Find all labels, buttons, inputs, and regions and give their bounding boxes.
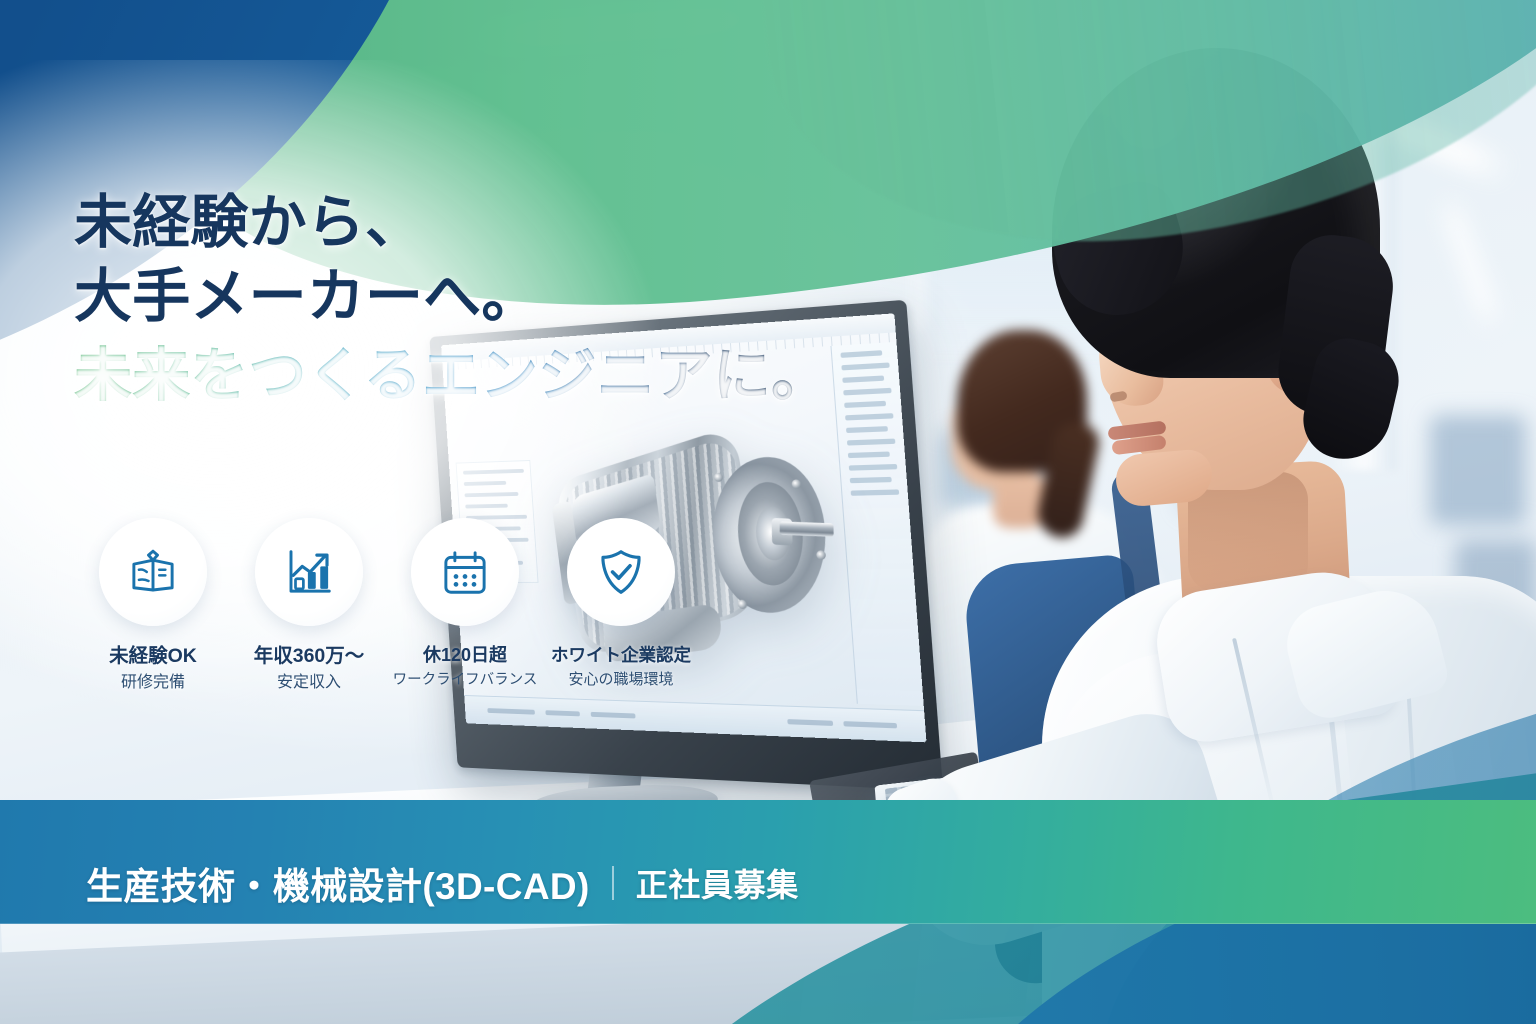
feature-title: ホワイト企業認定 — [546, 646, 696, 665]
feature-badge-white-company: ホワイト企業認定 安心の職場環境 — [546, 518, 696, 692]
calendar-icon — [438, 545, 492, 599]
feature-title: 未経験OK — [78, 646, 228, 667]
headline-block: 未経験から、 大手メーカーへ。 未来をつくるエンジニアに。 — [74, 186, 884, 414]
feature-icon-circle — [567, 518, 675, 626]
feature-subtitle: 研修完備 — [78, 674, 228, 692]
headline-line-3: 未来をつくるエンジニアに。 — [74, 338, 884, 413]
feature-subtitle: 安心の職場環境 — [546, 672, 696, 689]
headline-line-2: 大手メーカーへ。 — [74, 260, 884, 334]
employment-type-text: 正社員募集 — [636, 860, 799, 906]
feature-badge-list: 未経験OK 研修完備 年収360万〜 安定収入 — [78, 518, 698, 692]
recruitment-banner: 未経験から、 大手メーカーへ。 未来をつくるエンジニアに。 — [0, 0, 1536, 1024]
bottom-bar-divider — [612, 866, 614, 900]
feature-subtitle: ワークライフバランス — [390, 673, 540, 689]
feature-icon-circle — [99, 518, 207, 626]
feature-icon-circle — [255, 518, 363, 626]
feature-badge-inexperienced-ok: 未経験OK 研修完備 — [78, 518, 228, 692]
growth-chart-icon — [282, 545, 336, 599]
job-title-text: 生産技術・機械設計(3D-CAD) — [86, 856, 590, 910]
feature-title: 年収360万〜 — [234, 646, 384, 667]
gearbox-bolt — [816, 550, 827, 560]
headline-line-1: 未経験から、 — [74, 186, 884, 260]
feature-badge-holidays: 休120日超 ワークライフバランス — [390, 518, 540, 692]
feature-title: 休120日超 — [390, 646, 540, 666]
bottom-job-bar: 生産技術・機械設計(3D-CAD) 正社員募集 — [0, 800, 1536, 924]
bottom-bar-content: 生産技術・機械設計(3D-CAD) 正社員募集 — [86, 856, 799, 910]
feature-badge-salary: 年収360万〜 安定収入 — [234, 518, 384, 692]
feature-icon-circle — [411, 518, 519, 626]
shield-check-icon — [594, 545, 648, 599]
gearbox-output-shaft — [780, 521, 834, 537]
feature-subtitle: 安定収入 — [234, 674, 384, 692]
open-book-icon — [126, 545, 180, 599]
